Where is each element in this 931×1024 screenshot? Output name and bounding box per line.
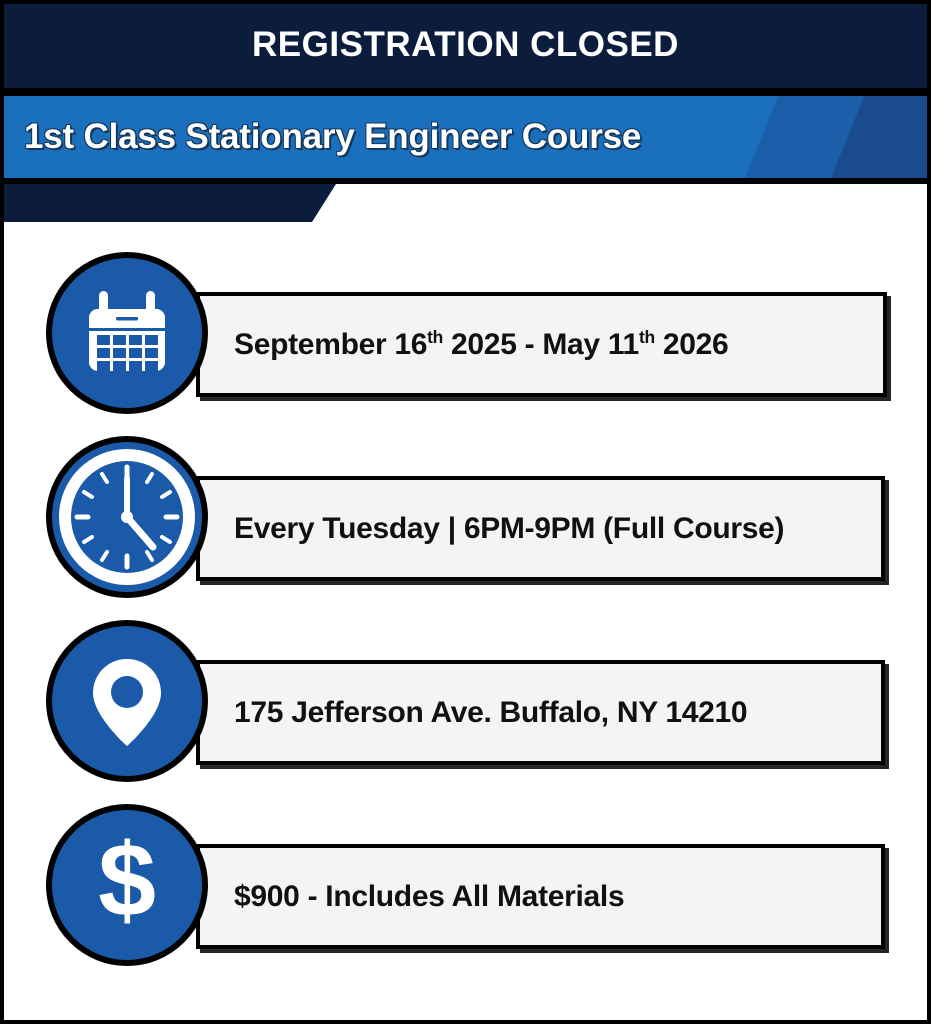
calendar-icon bbox=[46, 252, 208, 414]
course-info-card: REGISTRATION CLOSED 1st Class Stationary… bbox=[0, 0, 931, 1024]
dates-sup-2: th bbox=[639, 327, 655, 347]
detail-text-dates: September 16th 2025 - May 11th 2026 bbox=[200, 328, 728, 362]
detail-box-schedule: Every Tuesday | 6PM-9PM (Full Course) bbox=[196, 476, 885, 581]
dates-sup-1: th bbox=[427, 327, 443, 347]
status-divider bbox=[0, 88, 931, 96]
detail-text-price: $900 - Includes All Materials bbox=[200, 880, 624, 914]
dates-middle: 2025 - May 11 bbox=[443, 328, 639, 361]
detail-box-price: $900 - Includes All Materials bbox=[196, 844, 885, 949]
detail-row-location: 175 Jefferson Ave. Buffalo, NY 14210 bbox=[0, 620, 931, 804]
map-pin-icon bbox=[46, 620, 208, 782]
dates-suffix: 2026 bbox=[655, 328, 729, 361]
registration-status-label: REGISTRATION CLOSED bbox=[252, 27, 679, 62]
registration-status-bar: REGISTRATION CLOSED bbox=[0, 0, 931, 88]
detail-row-schedule: Every Tuesday | 6PM-9PM (Full Course) bbox=[0, 436, 931, 620]
dates-prefix: September 16 bbox=[234, 328, 427, 361]
accent-shape-wrapper bbox=[0, 184, 400, 222]
course-title: 1st Class Stationary Engineer Course bbox=[24, 96, 641, 178]
detail-row-price: $ $900 - Includes All Materials bbox=[0, 804, 931, 988]
course-details-list: September 16th 2025 - May 11th 2026 bbox=[0, 252, 931, 988]
navy-accent-shape bbox=[0, 184, 400, 222]
clock-icon bbox=[46, 436, 208, 598]
dollar-icon: $ bbox=[46, 804, 208, 966]
detail-text-schedule: Every Tuesday | 6PM-9PM (Full Course) bbox=[200, 512, 784, 546]
detail-text-location: 175 Jefferson Ave. Buffalo, NY 14210 bbox=[200, 696, 747, 730]
svg-text:$: $ bbox=[98, 830, 156, 939]
course-title-banner: 1st Class Stationary Engineer Course bbox=[0, 96, 931, 178]
detail-row-dates: September 16th 2025 - May 11th 2026 bbox=[0, 252, 931, 436]
detail-box-dates: September 16th 2025 - May 11th 2026 bbox=[196, 292, 887, 397]
detail-box-location: 175 Jefferson Ave. Buffalo, NY 14210 bbox=[196, 660, 885, 765]
